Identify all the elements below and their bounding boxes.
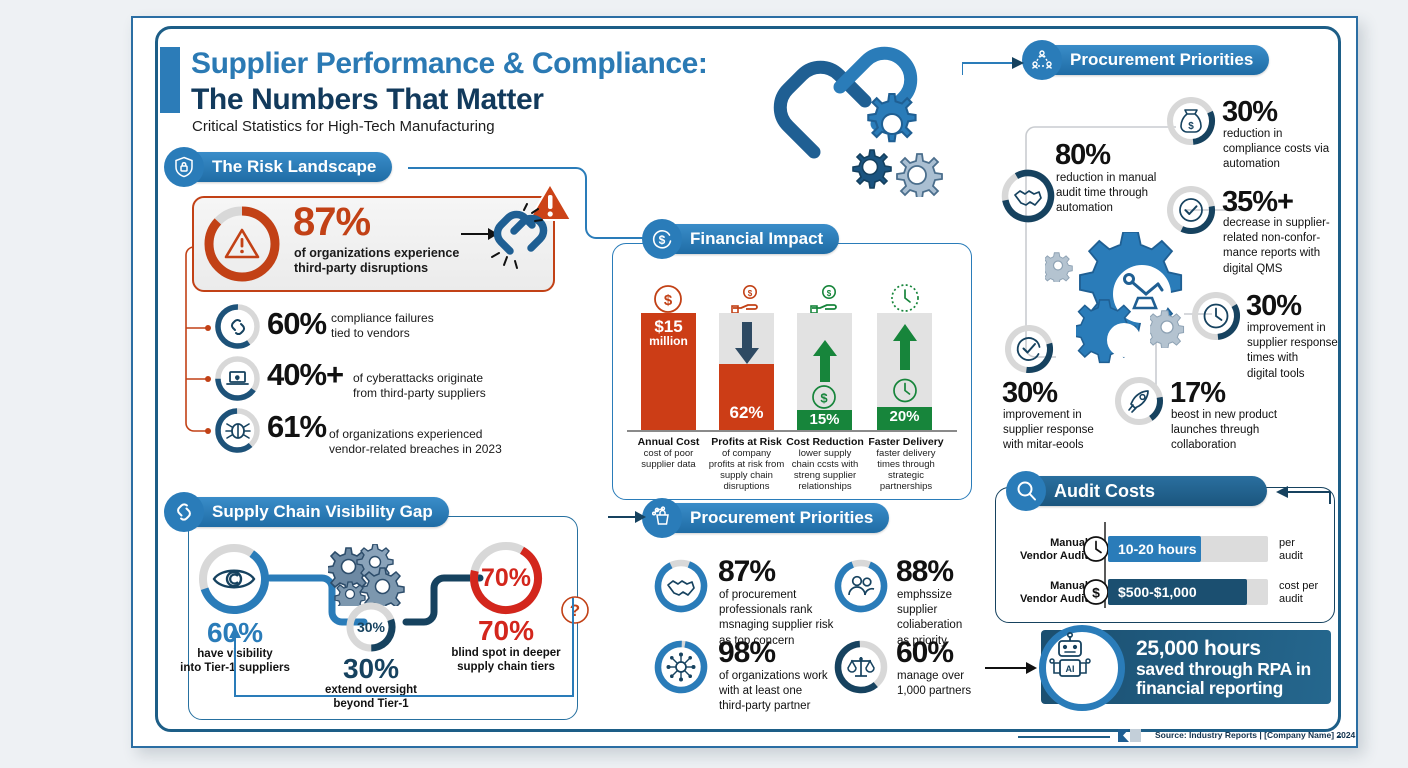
- chart-bar-0-label-sub: million: [641, 334, 696, 348]
- procurement-mid-2-line-0: of organizations work: [719, 669, 828, 684]
- clock-icon: [1082, 535, 1110, 563]
- procurement-right-1-line-1: compliance costs via: [1223, 142, 1329, 157]
- svg-text:$: $: [827, 289, 832, 298]
- title-accent-bar: [160, 47, 180, 113]
- procurement-right-3-line-3: digital tools: [1247, 367, 1338, 382]
- people-icon: [846, 574, 876, 598]
- rocket-icon: [1126, 388, 1152, 414]
- chart-cap-3-3: partnerships: [856, 481, 956, 492]
- chart-bar-2-value: 15%: [797, 411, 852, 428]
- svg-text:$: $: [748, 289, 753, 298]
- risk-donut-60: [214, 303, 261, 350]
- small-gear-icon: [1150, 310, 1188, 348]
- connector-arrow-to-audit: [1270, 478, 1336, 508]
- risk-highlight-desc-1: of organizations experience: [294, 246, 459, 261]
- procurement-right-1-value: 30%: [1222, 96, 1277, 129]
- audit-row-0-label: ManualVendor Audit: [1010, 537, 1088, 562]
- risk-donut-40: [214, 355, 261, 402]
- robot-icon: AI: [1046, 632, 1094, 682]
- chain-link-icon: [226, 315, 250, 339]
- procurement-right-1-line-2: automation: [1223, 157, 1329, 172]
- procurement-mid-0-line-1: professionals rank: [719, 603, 833, 618]
- procurement-mid-0-value: 87%: [718, 555, 775, 589]
- procurement-right-2-line-0: decrease in supplier-: [1223, 216, 1330, 231]
- procurement-right-donut-30c: [1003, 323, 1055, 375]
- audit-row-0-fill: 10-20 hours: [1108, 536, 1201, 562]
- svg-text:$: $: [820, 391, 828, 406]
- procurement-right-4-line-2: with mitar-eools: [1003, 438, 1094, 453]
- hand-money-down-icon: $: [731, 284, 763, 314]
- risk-highlight-desc-2: third-party disruptions: [294, 261, 428, 276]
- procurement-mid-2-value: 98%: [718, 636, 775, 670]
- handshake-icon: [666, 575, 696, 597]
- rpa-line-2: saved through RPA in: [1136, 660, 1336, 679]
- page-title-line2: The Numbers That Matter: [191, 83, 811, 117]
- procurement-right-5-line-0: beost in new product: [1171, 408, 1277, 423]
- procurement-right-4-line-1: supplier response: [1003, 423, 1094, 438]
- procurement-mid-0-line-2: msnaging supplier risk: [719, 618, 833, 633]
- risk-item-1-value: 40%+: [267, 357, 343, 393]
- procurement-right-2-line-3: digital QMS: [1223, 262, 1330, 277]
- source-text: Source: Industry Reports | [Company Name…: [1155, 730, 1355, 740]
- network-node-icon: [666, 652, 696, 682]
- risk-item-0-desc-1: compliance failures: [331, 311, 434, 325]
- procurement-right-3-line-2: times with: [1247, 351, 1338, 366]
- procurement-right-2-line-1: related non-confor-: [1223, 231, 1330, 246]
- section-header-procurement-mid-label: Procurement Priorities: [690, 508, 873, 528]
- section-header-audit[interactable]: Audit Costs: [1014, 476, 1267, 506]
- small-gear-icon: [1045, 252, 1075, 282]
- procurement-mid-3-line-1: 1,000 partners: [897, 684, 971, 699]
- laptop-alert-icon: [225, 366, 250, 391]
- clock-green-icon: [891, 377, 919, 404]
- procurement-mid-3-line-0: manage over: [897, 669, 971, 684]
- procurement-right-1-line-0: reduction in: [1223, 127, 1329, 142]
- procurement-right-2-value: 35%+: [1222, 186, 1293, 219]
- procurement-mid-2-line-1: with at least one: [719, 684, 828, 699]
- down-arrow-dark-icon: [731, 322, 763, 366]
- dollar-circle-icon: $: [653, 284, 683, 314]
- procurement-right-donut-30b: [1190, 290, 1242, 342]
- svg-text:AI: AI: [1066, 664, 1075, 674]
- dollar-cycle-icon: $: [642, 219, 682, 259]
- risk-item-2-desc-2: vendor-related breaches in 2023: [329, 442, 502, 456]
- procurement-right-0-value: 80%: [1055, 139, 1110, 172]
- risk-highlight-value: 87%: [293, 200, 370, 245]
- section-header-procurement-mid[interactable]: Procurement Priorities: [650, 503, 889, 533]
- risk-item-1-desc-1: of cyberattacks originate: [353, 371, 483, 385]
- procurement-mid-1-line-0: emphssize: [897, 588, 962, 603]
- section-header-financial-label: Financial Impact: [690, 229, 823, 249]
- dollar-circle-icon: $: [1082, 578, 1110, 606]
- risk-item-1-desc-2: from third-party suppliers: [353, 386, 486, 400]
- procurement-right-0-line-1: audit time through: [1056, 186, 1156, 201]
- svg-text:$: $: [1092, 585, 1100, 601]
- check-clock-icon: [1015, 335, 1043, 363]
- audit-row-1-label: ManualVendor Audit: [1010, 580, 1088, 605]
- risk-bracket-connector: [178, 245, 218, 445]
- section-header-audit-label: Audit Costs: [1054, 481, 1155, 502]
- chain-gears-illustration: [742, 42, 952, 197]
- procurement-mid-1-line-2: coliaberation: [897, 618, 962, 633]
- procurement-right-5-value: 17%: [1170, 377, 1225, 410]
- procurement-right-donut-80: [1000, 168, 1056, 224]
- procurement-right-3-value: 30%: [1246, 290, 1301, 323]
- audit-row-1-side: cost peraudit: [1279, 580, 1318, 606]
- risk-item-2-value: 61%: [267, 409, 326, 445]
- chart-cap-3-0: faster delivery: [856, 448, 956, 459]
- up-arrow-green-icon: [809, 340, 841, 382]
- procurement-right-0-line-2: automation: [1056, 201, 1156, 216]
- page-title-line1: Supplier Performance & Compliance:: [191, 48, 811, 80]
- money-bag-icon: $: [1179, 108, 1203, 134]
- section-header-risk[interactable]: The Risk Landscape: [172, 152, 392, 182]
- page-subtitle: Critical Statistics for High-Tech Manufa…: [192, 118, 812, 135]
- dollar-circle-green-icon: $: [810, 384, 838, 410]
- magnifier-icon: [1006, 471, 1046, 511]
- audit-row-1-fill: $500-$1,000: [1108, 579, 1247, 605]
- risk-item-2-desc-1: of organizations experienced: [329, 427, 482, 441]
- procurement-right-3-line-0: improvement in: [1247, 321, 1338, 336]
- procurement-right-2-line-2: mance reports with: [1223, 246, 1330, 261]
- chain-link-icon: [164, 492, 204, 532]
- procurement-mid-donut-88: [833, 558, 889, 614]
- rpa-line-1: 25,000 hours: [1136, 638, 1336, 660]
- section-header-risk-label: The Risk Landscape: [212, 157, 376, 177]
- handshake-icon: [1013, 185, 1043, 207]
- rpa-line-3: financial reporting: [1136, 679, 1336, 698]
- procurement-mid-3-value: 60%: [896, 636, 953, 670]
- risk-donut-61: [214, 407, 261, 454]
- svg-text:$: $: [1188, 121, 1194, 132]
- risk-item-0-value: 60%: [267, 306, 326, 342]
- section-header-visibility-label: Supply Chain Visibility Gap: [212, 502, 433, 522]
- procurement-mid-0-line-0: of procurement: [719, 588, 833, 603]
- clock-icon: [890, 283, 920, 314]
- procurement-right-5-line-2: collaboration: [1171, 438, 1277, 453]
- chart-axis: [627, 430, 957, 432]
- chart-cat-3: Faster Delivery: [856, 436, 956, 448]
- procurement-right-3-line-1: supplier response: [1247, 336, 1338, 351]
- visibility-loop-arrow: [225, 588, 580, 713]
- procurement-mid-donut-98: [653, 639, 709, 695]
- company-logo: [1118, 727, 1152, 744]
- procurement-mid-2-line-2: third-party partner: [719, 699, 828, 714]
- chart-cap-3-2: strategic: [856, 470, 956, 481]
- procurement-right-5-line-1: launches threugh: [1171, 423, 1277, 438]
- procurement-mid-donut-87: [653, 558, 709, 614]
- procurement-mid-donut-60: [833, 639, 889, 695]
- broken-chain-icon: [487, 203, 549, 275]
- clock-icon: [1202, 302, 1230, 330]
- chart-bar-1-value: 62%: [719, 403, 774, 423]
- procurement-right-4-value: 30%: [1002, 377, 1057, 410]
- svg-text:$: $: [664, 292, 673, 309]
- up-arrow-green-icon: [889, 324, 921, 370]
- audit-row-0-value: 10-20 hours: [1118, 541, 1197, 557]
- svg-text:$: $: [659, 233, 666, 247]
- audit-row-0-side: peraudit: [1279, 537, 1303, 563]
- section-header-procurement-right[interactable]: Procurement Priorities: [1030, 45, 1269, 75]
- connector-arrow-to-procurement-right: [962, 45, 1037, 75]
- warning-triangle-icon: [222, 225, 262, 263]
- section-header-financial[interactable]: $ Financial Impact: [650, 224, 839, 254]
- scales-icon: [847, 654, 875, 680]
- source-rule-left: [1018, 736, 1110, 738]
- rpa-icon-circle: AI: [1039, 625, 1125, 711]
- procurement-right-0-line-0: reduction in manual: [1056, 171, 1156, 186]
- check-circle-icon: [1178, 197, 1204, 223]
- audit-row-1-value: $500-$1,000: [1118, 584, 1197, 600]
- chart-bar-3-value: 20%: [877, 408, 932, 425]
- shield-lock-icon: [164, 147, 204, 187]
- procurement-right-donut-35: [1165, 184, 1217, 236]
- procurement-right-4-line-0: improvement in: [1003, 408, 1094, 423]
- procurement-mid-1-value: 88%: [896, 555, 953, 589]
- risk-item-0-desc-2: tied to vendors: [331, 326, 410, 340]
- hand-money-up-icon: $: [810, 284, 842, 314]
- bug-icon: [225, 420, 251, 442]
- connector-arrow-to-procurement-mid: [608, 503, 654, 529]
- procurement-right-donut-17: [1113, 375, 1165, 427]
- procurement-mid-1-line-1: supplier: [897, 603, 962, 618]
- section-header-procurement-right-label: Procurement Priorities: [1070, 50, 1253, 70]
- section-header-visibility[interactable]: Supply Chain Visibility Gap: [172, 497, 449, 527]
- procurement-right-donut-30a: $: [1165, 95, 1217, 147]
- chart-cap-3-1: times through: [856, 459, 956, 470]
